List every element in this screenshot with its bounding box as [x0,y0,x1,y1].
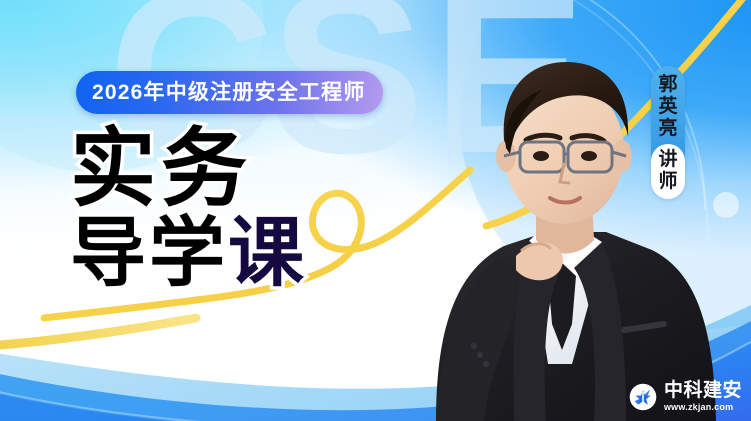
brand-logo-text: 中科建安 www.zkjan.com [664,381,742,412]
instructor-name-char-3: 亮 [658,118,677,140]
headline-line-1: 实务 [70,127,430,211]
course-promo-banner: C S E [0,0,751,421]
course-year-badge: 2026年中级注册安全工程师 [76,71,383,114]
instructor-role-badge: 讲 师 [651,144,685,199]
headline-block: 实务 导学课 [70,127,430,292]
instructor-role: 讲 师 [658,149,677,193]
zkjan-star-mark-icon [629,383,657,411]
instructor-role-char-1: 讲 [658,149,677,171]
brand-url: www.zkjan.com [664,403,742,412]
headline-line-2: 导学课 [70,217,430,291]
instructor-name-char-1: 郭 [658,74,677,96]
headline-line-2-accent: 课 [228,211,307,296]
course-year-badge-label: 2026年中级注册安全工程师 [92,82,366,103]
headline-line-2-main: 导学 [70,211,228,296]
brand-logo: 中科建安 www.zkjan.com [629,381,742,412]
brand-name: 中科建安 [664,381,742,400]
instructor-name-char-2: 英 [658,96,677,118]
instructor-name: 郭 英 亮 [658,74,677,141]
instructor-role-char-2: 师 [658,171,677,193]
instructor-name-pill: 郭 英 亮 讲 师 [651,66,685,199]
